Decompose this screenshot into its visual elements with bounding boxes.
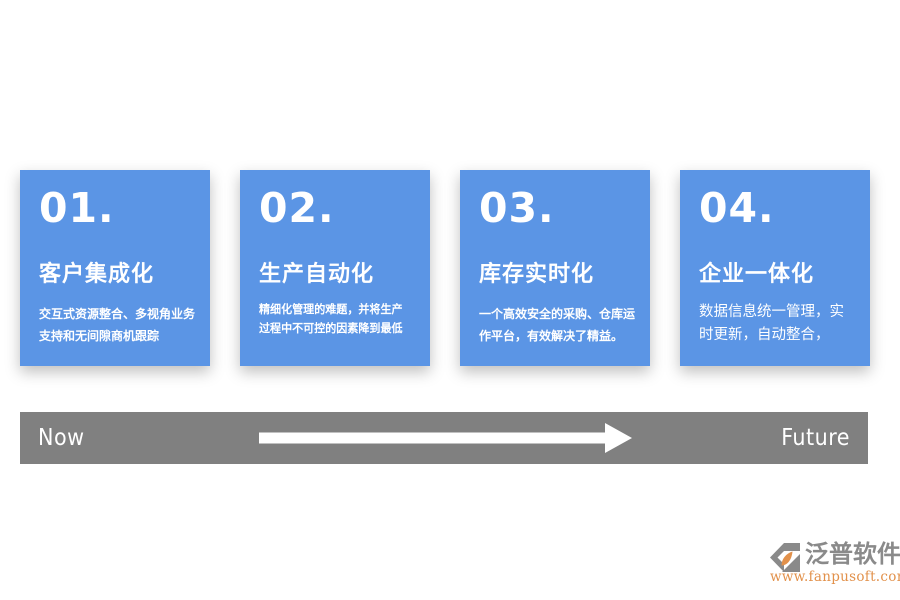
feature-card-3[interactable]: 03. 库存实时化 一个高效安全的采购、仓库运作平台，有效解决了精益。 xyxy=(460,170,650,366)
card-title: 客户集成化 xyxy=(39,261,154,286)
logo-wordmark: 泛普软件 xyxy=(805,540,900,570)
feature-card-2[interactable]: 02. 生产自动化 精细化管理的难题，并将生产过程中不可控的因素降到最低 xyxy=(240,170,430,366)
logo-url: www.fanpusoft.com xyxy=(770,569,900,585)
card-number: 04. xyxy=(699,188,775,229)
card-title: 库存实时化 xyxy=(479,261,594,286)
card-description: 精细化管理的难题，并将生产过程中不可控的因素降到最低 xyxy=(259,301,412,338)
timeline-bar: Now Future xyxy=(20,412,868,464)
card-title: 生产自动化 xyxy=(259,261,374,286)
brand-logo[interactable]: 泛普软件 www.fanpusoft.com xyxy=(768,540,890,586)
card-number: 03. xyxy=(479,188,555,229)
feature-card-row: 01. 客户集成化 交互式资源整合、多视角业务支持和无间隙商机跟踪 02. 生产… xyxy=(0,170,900,366)
card-title: 企业一体化 xyxy=(699,261,814,286)
timeline-start-label: Now xyxy=(38,412,85,464)
card-description: 交互式资源整合、多视角业务支持和无间隙商机跟踪 xyxy=(39,303,198,347)
right-arrow-icon xyxy=(259,423,632,453)
feature-card-1[interactable]: 01. 客户集成化 交互式资源整合、多视角业务支持和无间隙商机跟踪 xyxy=(20,170,210,366)
feature-card-4[interactable]: 04. 企业一体化 数据信息统一管理，实时更新，自动整合， xyxy=(680,170,870,366)
card-number: 01. xyxy=(39,188,115,229)
card-number: 02. xyxy=(259,188,335,229)
timeline-end-label: Future xyxy=(781,412,850,464)
infographic-canvas: 01. 客户集成化 交互式资源整合、多视角业务支持和无间隙商机跟踪 02. 生产… xyxy=(0,0,900,600)
card-description: 数据信息统一管理，实时更新，自动整合， xyxy=(699,301,858,347)
card-description: 一个高效安全的采购、仓库运作平台，有效解决了精益。 xyxy=(479,303,638,347)
